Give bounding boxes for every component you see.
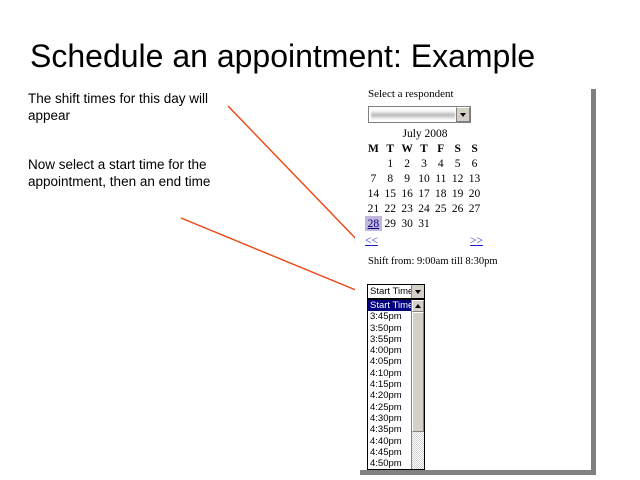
calendar-day-cell[interactable]: 5 [449,156,466,171]
calendar-week-row: 7 8 9 10 11 12 13 [365,171,483,186]
calendar-weekday-header: S [466,141,483,156]
calendar-day-cell-selected[interactable]: 28 [365,216,382,231]
calendar-weekday-header: M [365,141,382,156]
calendar-weekday-header: S [449,141,466,156]
list-item[interactable]: Start Time [368,300,411,311]
calendar-day-cell[interactable]: 16 [399,186,416,201]
calendar-day-cell[interactable]: 27 [466,201,483,216]
list-item[interactable]: 3:55pm [368,334,411,345]
calendar-day-cell[interactable]: 6 [466,156,483,171]
caret-up-icon[interactable] [412,300,424,312]
list-item[interactable]: 4:35pm [368,424,411,435]
calendar-day-cell[interactable]: 8 [382,171,399,186]
calendar-day-cell[interactable]: 3 [416,156,433,171]
list-item[interactable]: 4:00pm [368,345,411,356]
callout-text-select-start-time: Now select a start time for the appointm… [28,156,243,190]
list-item[interactable]: 4:45pm [368,447,411,458]
application-panel: Select a respondent July 2008 M T W T F … [355,84,591,470]
calendar-prev-month-link[interactable]: << [365,235,378,247]
list-item[interactable]: 4:25pm [368,402,411,413]
calendar-navigation: << >> [365,231,483,247]
calendar-day-cell[interactable]: 11 [432,171,449,186]
list-item[interactable]: 3:45pm [368,311,411,322]
calendar-day-cell[interactable]: 19 [449,186,466,201]
calendar-week-row: 1 2 3 4 5 6 [365,156,483,171]
calendar-caption: July 2008 [365,128,485,141]
list-item[interactable]: 4:20pm [368,390,411,401]
calendar-day-cell[interactable]: 25 [432,201,449,216]
calendar-day-cell[interactable]: 4 [432,156,449,171]
calendar-day-cell[interactable]: 23 [399,201,416,216]
respondent-select[interactable] [368,106,471,123]
calendar-day-cell[interactable] [466,216,483,231]
scrollbar-thumb[interactable] [412,312,424,432]
calendar-day-cell[interactable]: 7 [365,171,382,186]
calendar-day-cell[interactable]: 26 [449,201,466,216]
calendar-week-row: 14 15 16 17 18 19 20 [365,186,483,201]
calendar-day-cell[interactable] [449,216,466,231]
calendar-week-row: 28 29 30 31 [365,216,483,231]
scrollbar-track[interactable] [412,432,424,469]
calendar-day-cell[interactable]: 10 [416,171,433,186]
calendar-day-cell[interactable] [432,216,449,231]
calendar-weekday-header: T [416,141,433,156]
calendar-weekday-header: W [399,141,416,156]
calendar-week-row: 21 22 23 24 25 26 27 [365,201,483,216]
page-title: Schedule an appointment: Example [30,38,620,75]
calendar-day-cell[interactable]: 24 [416,201,433,216]
calendar-day-cell[interactable]: 22 [382,201,399,216]
list-scrollbar[interactable] [411,300,424,469]
respondent-select-value [371,109,455,120]
calendar-day-cell[interactable]: 21 [365,201,382,216]
calendar-day-cell[interactable]: 31 [416,216,433,231]
calendar-day-cell[interactable]: 9 [399,171,416,186]
calendar-day-cell[interactable]: 12 [449,171,466,186]
calendar-day-cell[interactable]: 13 [466,171,483,186]
calendar-next-month-link[interactable]: >> [470,235,483,247]
callout-text-shift-times: The shift times for this day will appear [28,90,243,124]
calendar-table: M T W T F S S 1 2 3 4 5 6 [365,141,483,231]
calendar-header-row: M T W T F S S [365,141,483,156]
start-time-select-value: Start Time [368,285,411,298]
calendar-day-cell[interactable]: 20 [466,186,483,201]
calendar-day-cell[interactable]: 30 [399,216,416,231]
calendar-weekday-header: T [382,141,399,156]
list-item[interactable]: 4:15pm [368,379,411,390]
calendar-day-cell[interactable]: 18 [432,186,449,201]
start-time-options-container: Start Time 3:45pm 3:50pm 3:55pm 4:00pm 4… [368,300,411,469]
start-time-select[interactable]: Start Time [367,284,425,299]
arrow-to-start-time-dropdown [181,218,363,293]
calendar-day-cell[interactable] [365,156,382,171]
calendar-weekday-header: F [432,141,449,156]
calendar-day-cell[interactable]: 14 [365,186,382,201]
calendar-day-cell[interactable]: 1 [382,156,399,171]
list-item[interactable]: 3:50pm [368,323,411,334]
list-item[interactable]: 4:50pm [368,458,411,469]
calendar-day-cell[interactable]: 29 [382,216,399,231]
list-item[interactable]: 4:40pm [368,436,411,447]
shift-info-text: Shift from: 9:00am till 8:30pm [368,256,498,267]
calendar-day-cell[interactable]: 15 [382,186,399,201]
list-item[interactable]: 4:05pm [368,356,411,367]
chevron-down-icon[interactable] [456,107,470,122]
calendar-widget: July 2008 M T W T F S S 1 2 3 [365,128,485,247]
calendar-day-cell[interactable]: 2 [399,156,416,171]
arrow-to-calendar [228,106,360,243]
calendar-day-cell[interactable]: 17 [416,186,433,201]
list-item[interactable]: 4:30pm [368,413,411,424]
respondent-label: Select a respondent [368,88,454,100]
start-time-option-list[interactable]: Start Time 3:45pm 3:50pm 3:55pm 4:00pm 4… [367,299,425,470]
chevron-down-icon[interactable] [411,285,424,298]
list-item[interactable]: 4:10pm [368,368,411,379]
